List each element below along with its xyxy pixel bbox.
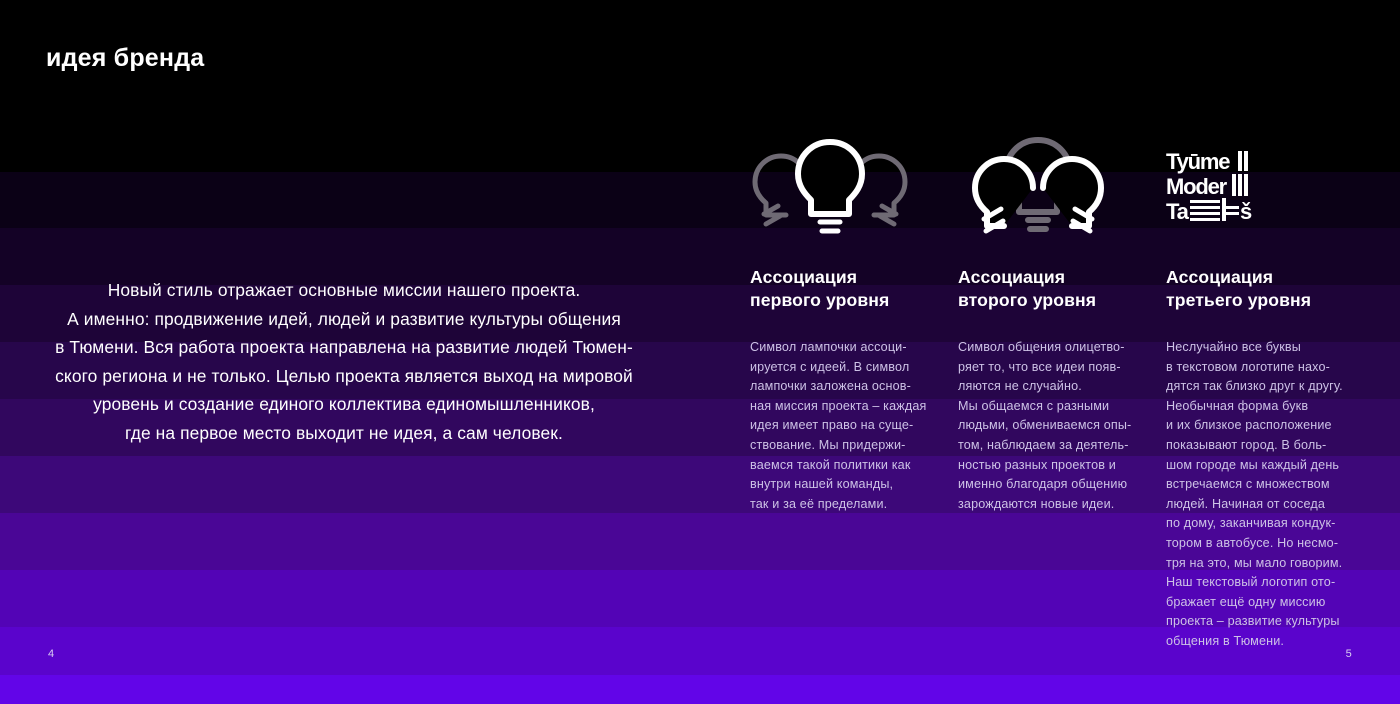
association-body-line: показывают город. В боль- bbox=[1166, 436, 1356, 456]
association-body-line: встречаемся с множеством bbox=[1166, 475, 1356, 495]
page-number-right: 5 bbox=[1346, 648, 1352, 660]
association-body-line: тором в автобусе. Но несмо- bbox=[1166, 534, 1356, 554]
association-body-line: бражает ещё одну миссию bbox=[1166, 593, 1356, 613]
association-body-line: Символ лампочки ассоци- bbox=[750, 338, 940, 358]
association-column-2-heading: Ассоциациявторого уровня bbox=[958, 266, 1148, 311]
mission-paragraph: Новый стиль отражает основные миссии наш… bbox=[30, 276, 658, 448]
association-body-line: людей. Начиная от соседа bbox=[1166, 495, 1356, 515]
association-body-line: Мы общаемся с разными bbox=[958, 397, 1148, 417]
association-body-line: ная миссия проекта – каждая bbox=[750, 397, 940, 417]
association-body-line: по дому, заканчивая кондук- bbox=[1166, 514, 1356, 534]
association-column-2-body: Символ общения олицетво-ряет то, что все… bbox=[958, 338, 1148, 514]
association-body-line: Символ общения олицетво- bbox=[958, 338, 1148, 358]
association-body-line: в текстовом логотипе нахо- bbox=[1166, 358, 1356, 378]
page-number-left: 4 bbox=[48, 648, 54, 660]
association-body-line: именно благодаря общению bbox=[958, 475, 1148, 495]
association-column-2: Ассоциациявторого уровня Символ общения … bbox=[958, 266, 1148, 514]
association-body-line: том, наблюдаем за деятель- bbox=[958, 436, 1148, 456]
association-body-line: ствование. Мы придержи- bbox=[750, 436, 940, 456]
lightbulb-pair-highlight-icon bbox=[958, 136, 1118, 240]
svg-text:š: š bbox=[1240, 199, 1252, 224]
association-body-line: общения в Тюмени. bbox=[1166, 632, 1356, 652]
association-body-line: Наш текстовый логотип ото- bbox=[1166, 573, 1356, 593]
association-body-line: ностью разных проектов и bbox=[958, 456, 1148, 476]
svg-text:Moder: Moder bbox=[1166, 174, 1228, 199]
association-heading-line: первого уровня bbox=[750, 289, 940, 312]
association-body-line: Необычная форма букв bbox=[1166, 397, 1356, 417]
lightbulb-single-highlight-icon bbox=[750, 136, 910, 240]
association-body-line: ряет то, что все идеи появ- bbox=[958, 358, 1148, 378]
bulb-base-lines bbox=[820, 222, 840, 231]
association-body-line: зарождаются новые идеи. bbox=[958, 495, 1148, 515]
svg-text:Tyūme: Tyūme bbox=[1166, 149, 1230, 174]
mission-line: уровень и создание единого коллектива ед… bbox=[30, 390, 658, 419]
association-body-line: дятся так близко друг к другу. bbox=[1166, 377, 1356, 397]
association-body-line: и их близкое расположение bbox=[1166, 416, 1356, 436]
association-column-1-heading: Ассоциацияпервого уровня bbox=[750, 266, 940, 311]
bright-bulb-right bbox=[1043, 159, 1101, 226]
mission-line: А именно: продвижение идей, людей и разв… bbox=[30, 305, 658, 334]
association-body-line: ляются не случайно. bbox=[958, 377, 1148, 397]
association-heading-line: второго уровня bbox=[958, 289, 1148, 312]
association-body-line: тря на это, мы мало говорим. bbox=[1166, 554, 1356, 574]
mission-line: ского региона и не только. Целью проекта… bbox=[30, 362, 658, 391]
association-body-line: идея имеет право на суще- bbox=[750, 416, 940, 436]
brand-idea-slide: идея бренда Новый стиль отражает основны… bbox=[0, 0, 1400, 704]
association-column-3: Ассоциациятретьего уровня Неслучайно все… bbox=[1166, 266, 1356, 652]
mission-line: Новый стиль отражает основные миссии наш… bbox=[30, 276, 658, 305]
icon-row: Tyūme Moder Ta bbox=[750, 136, 1360, 240]
association-heading-line: Ассоциация bbox=[750, 266, 940, 289]
tyumen-modern-talks-wordmark: Tyūme Moder Ta bbox=[1166, 136, 1326, 240]
association-body-line: людьми, обмениваемся опы- bbox=[958, 416, 1148, 436]
association-body-line: ируется с идеей. В символ bbox=[750, 358, 940, 378]
association-body-line: шом городе мы каждый день bbox=[1166, 456, 1356, 476]
svg-text:Ta: Ta bbox=[1166, 199, 1190, 224]
association-column-1: Ассоциацияпервого уровня Символ лампочки… bbox=[750, 266, 940, 514]
bright-bulb-left bbox=[975, 159, 1033, 226]
mission-line: где на первое место выходит не идея, а с… bbox=[30, 419, 658, 448]
association-body-line: Неслучайно все буквы bbox=[1166, 338, 1356, 358]
association-column-1-body: Символ лампочки ассоци-ируется с идеей. … bbox=[750, 338, 940, 514]
association-heading-line: третьего уровня bbox=[1166, 289, 1356, 312]
association-column-3-body: Неслучайно все буквыв текстовом логотипе… bbox=[1166, 338, 1356, 652]
association-heading-line: Ассоциация bbox=[958, 266, 1148, 289]
association-body-line: лампочки заложена основ- bbox=[750, 377, 940, 397]
association-column-3-heading: Ассоциациятретьего уровня bbox=[1166, 266, 1356, 311]
page-title: идея бренда bbox=[46, 44, 204, 73]
mission-line: в Тюмени. Вся работа проекта направлена … bbox=[30, 333, 658, 362]
association-body-line: так и за её пределами. bbox=[750, 495, 940, 515]
association-body-line: ваемся такой политики как bbox=[750, 456, 940, 476]
association-heading-line: Ассоциация bbox=[1166, 266, 1356, 289]
bright-bulb-center bbox=[798, 142, 862, 214]
association-body-line: проекта – развитие культуры bbox=[1166, 612, 1356, 632]
association-body-line: внутри нашей команды, bbox=[750, 475, 940, 495]
